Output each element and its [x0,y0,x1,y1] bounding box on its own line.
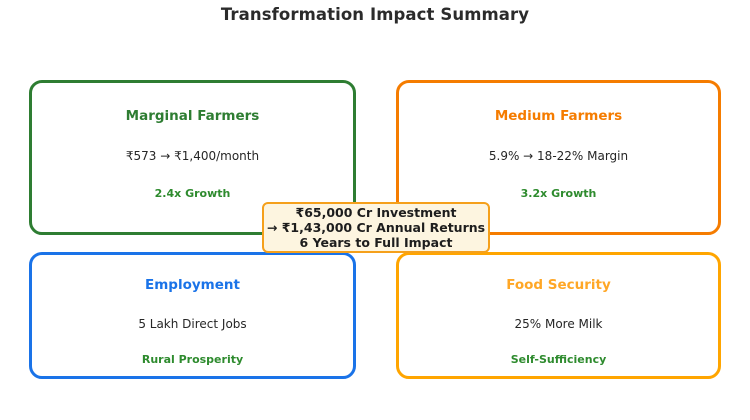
card-value-food-security: 25% More Milk [514,318,602,330]
investment-callout: ₹65,000 Cr Investment → ₹1,43,000 Cr Ann… [262,202,490,253]
card-value-medium-farmers: 5.9% → 18-22% Margin [489,150,628,162]
card-tag-employment: Rural Prosperity [142,354,243,365]
card-value-employment: 5 Lakh Direct Jobs [138,318,246,330]
card-title-medium-farmers: Medium Farmers [495,110,622,124]
card-title-employment: Employment [145,279,240,293]
card-employment: Employment 5 Lakh Direct Jobs Rural Pros… [29,252,356,379]
card-tag-marginal-farmers: 2.4x Growth [155,188,231,199]
card-value-marginal-farmers: ₹573 → ₹1,400/month [126,150,259,162]
card-title-marginal-farmers: Marginal Farmers [126,110,260,124]
callout-line-investment: ₹65,000 Cr Investment [296,205,457,220]
card-food-security: Food Security 25% More Milk Self-Suffici… [396,252,721,379]
card-tag-medium-farmers: 3.2x Growth [521,188,597,199]
page-title: Transformation Impact Summary [0,5,750,24]
callout-line-timeline: 6 Years to Full Impact [300,235,453,250]
card-title-food-security: Food Security [506,279,611,293]
summary-canvas: Transformation Impact Summary Marginal F… [0,0,750,420]
callout-line-returns: → ₹1,43,000 Cr Annual Returns [267,220,485,235]
card-tag-food-security: Self-Sufficiency [511,354,607,365]
